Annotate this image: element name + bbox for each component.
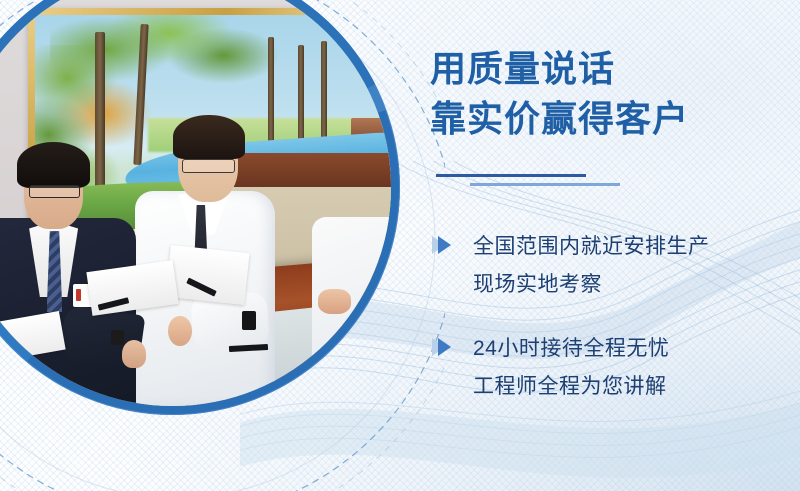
feature-item-1-line-1: 全国范围内就近安排生产: [473, 228, 800, 266]
eyeglasses: [29, 185, 80, 197]
headline-line-1: 用质量说话: [430, 44, 800, 94]
divider-line-top: [436, 174, 586, 177]
feature-list: 全国范围内就近安排生产 现场实地考察 24小时接待全程无忧 工程师全程为您讲解: [425, 228, 800, 432]
feature-item-2-line-2: 工程师全程为您讲解: [473, 368, 800, 406]
headline-line-2: 靠实价赢得客户: [430, 94, 800, 144]
wristwatch: [242, 311, 257, 330]
wristwatch: [111, 330, 123, 345]
promo-banner: 用质量说话 靠实价赢得客户 全国范围内就近安排生产 现场实地考察 24小时接待全…: [0, 0, 800, 491]
feature-item-2: 24小时接待全程无忧 工程师全程为您讲解: [425, 330, 800, 406]
divider-line-bottom: [470, 183, 620, 186]
signing-document: [166, 245, 250, 305]
person-partial-right: [312, 196, 391, 406]
photo-circle: [0, 0, 400, 415]
office-signing-photo: [0, 0, 391, 406]
headline: 用质量说话 靠实价赢得客户: [430, 44, 800, 144]
feature-item-1: 全国范围内就近安排生产 现场实地考察: [425, 228, 800, 304]
banner-content: 用质量说话 靠实价赢得客户 全国范围内就近安排生产 现场实地考察 24小时接待全…: [425, 0, 800, 491]
headline-divider: [430, 172, 660, 194]
feature-item-2-line-1: 24小时接待全程无忧: [473, 330, 800, 368]
feature-item-1-line-2: 现场实地考察: [473, 266, 800, 304]
eyeglasses: [182, 159, 235, 173]
arrow-right-icon: [432, 336, 456, 358]
arrow-right-icon: [432, 234, 456, 256]
